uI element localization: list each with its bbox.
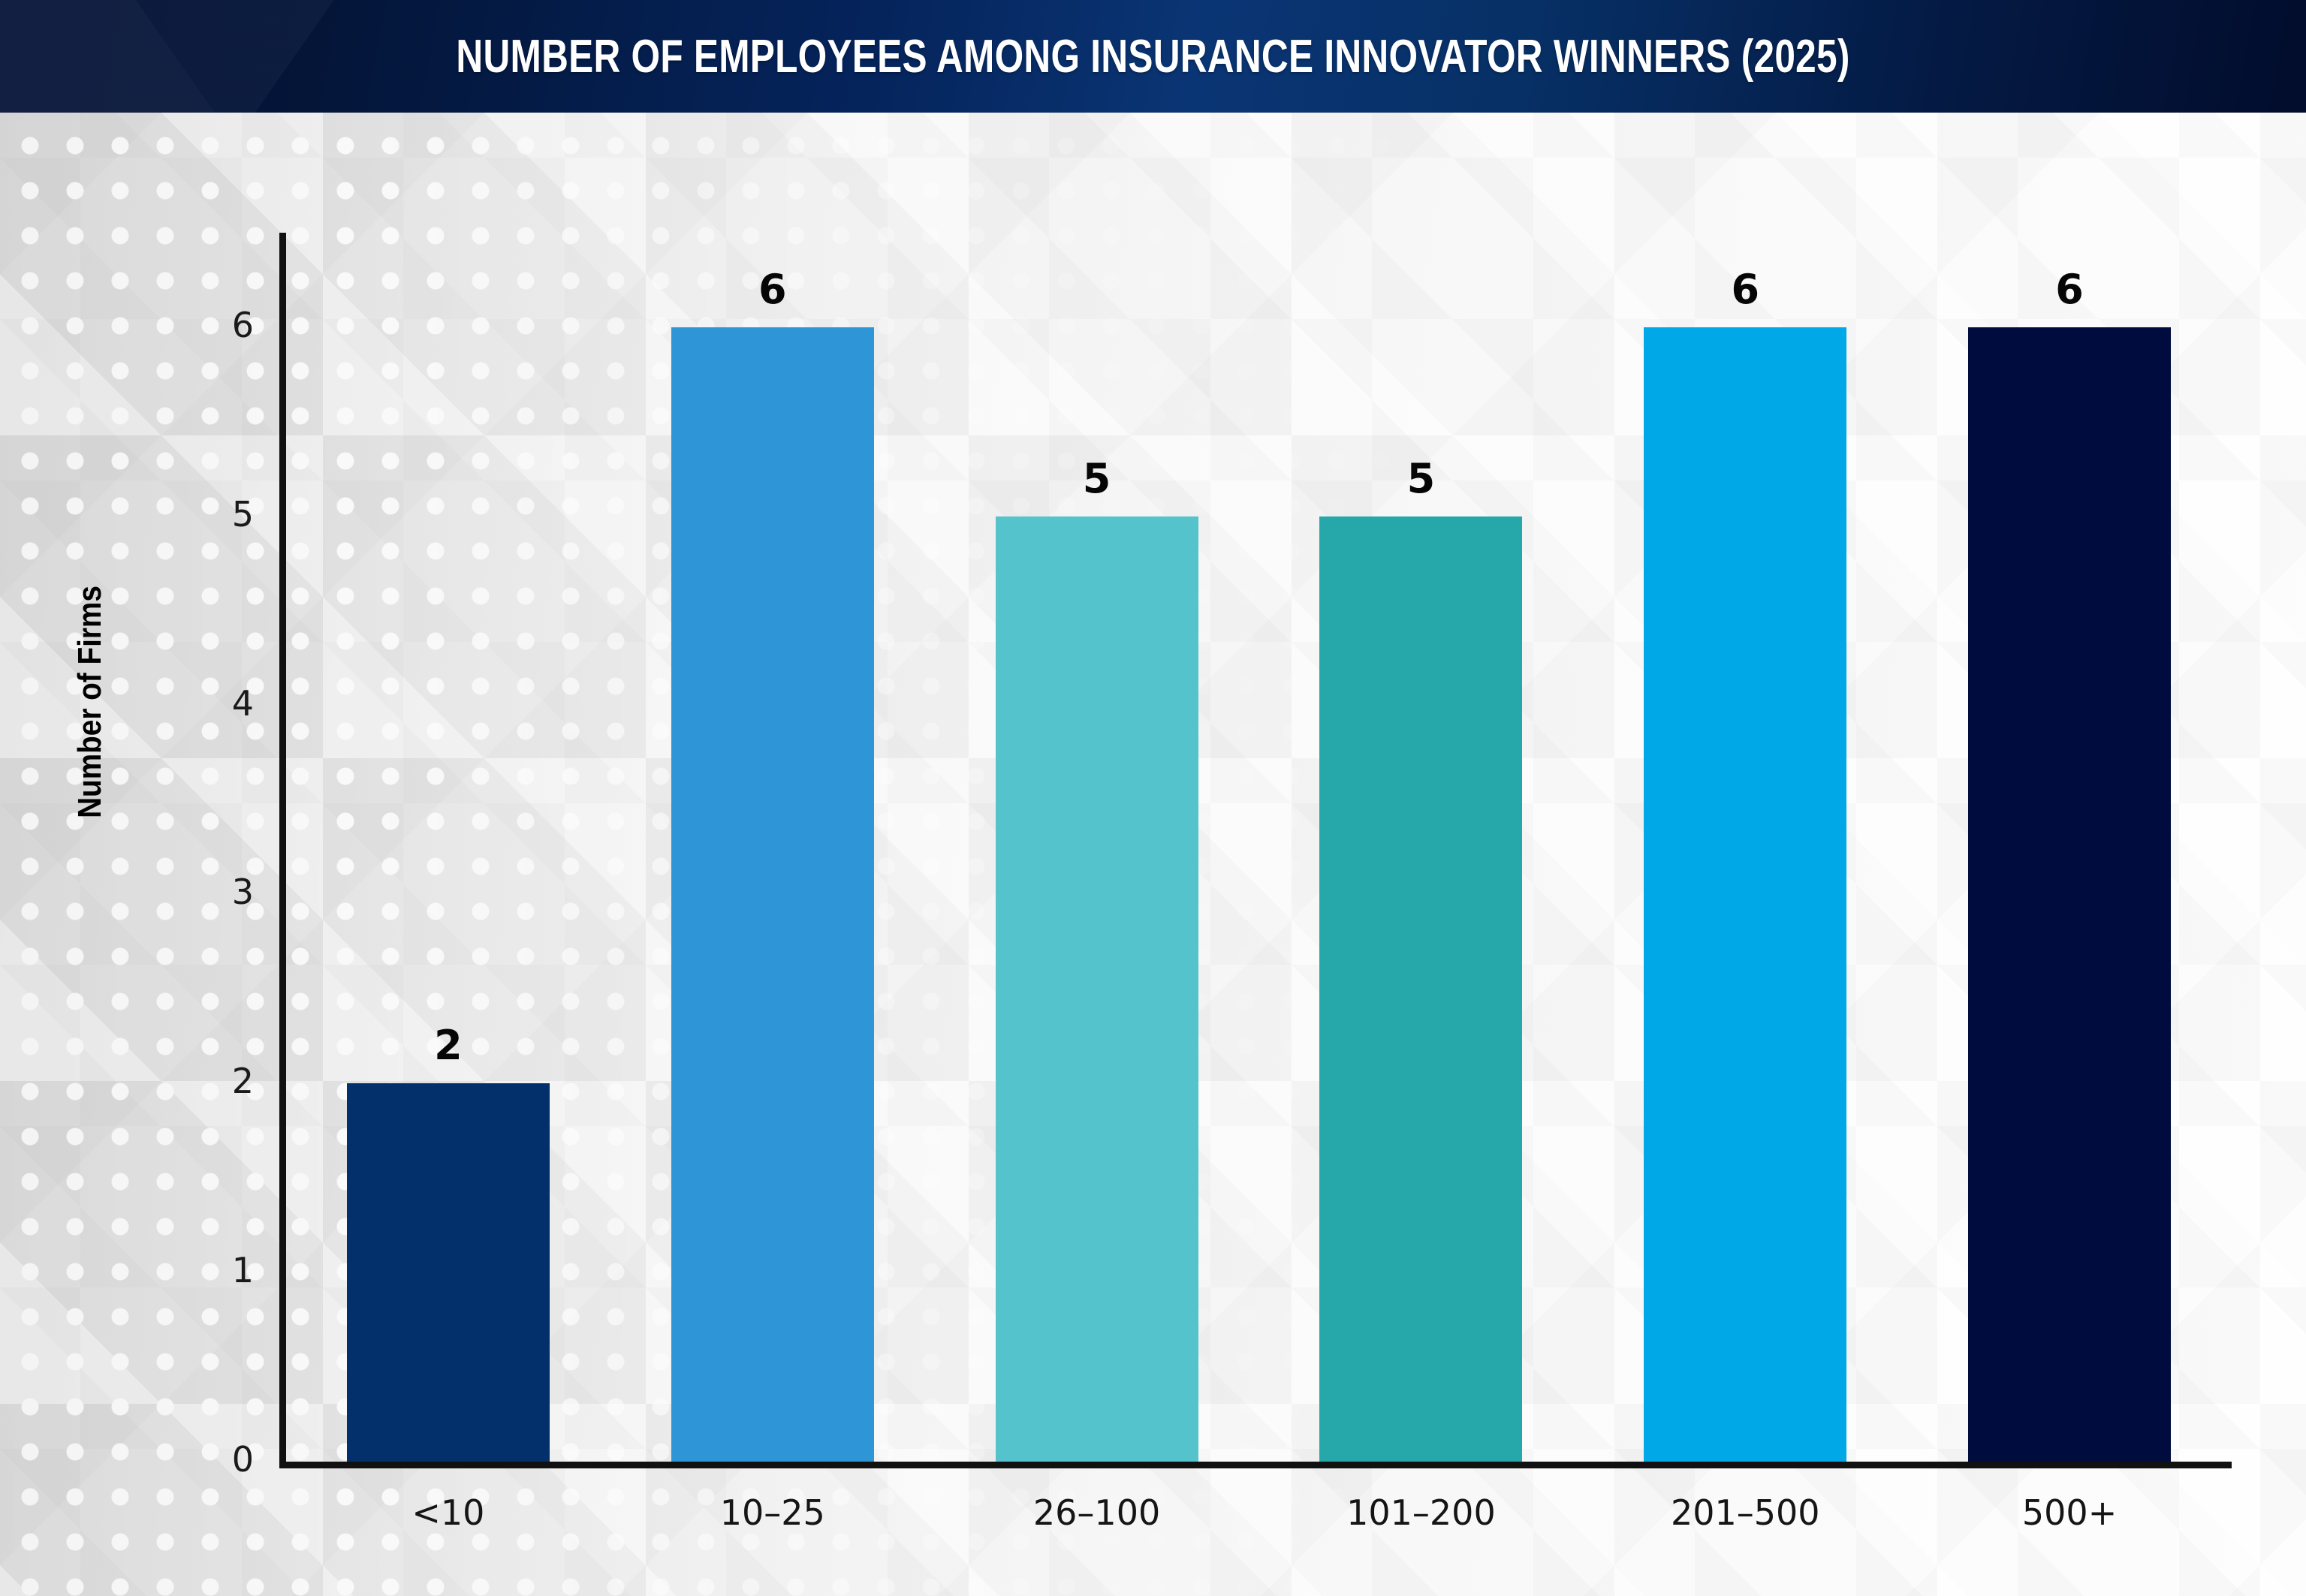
y-axis-line: [279, 233, 286, 1468]
x-axis-tick-label: 10–25: [610, 1492, 935, 1533]
bar-value-label: 5: [1319, 455, 1522, 502]
y-axis-tick-label: 0: [186, 1439, 254, 1480]
y-axis-tick-label: 2: [186, 1061, 254, 1101]
y-axis-tick-label: 5: [186, 494, 254, 535]
y-axis-tick-label: 6: [186, 305, 254, 345]
infographic-chart: NUMBER OF EMPLOYEES AMONG INSURANCE INNO…: [0, 0, 2306, 1596]
chart-canvas: 0123456 Number of Firms 265566 <1010–252…: [0, 113, 2306, 1596]
bar-value-label: 6: [1644, 266, 1846, 313]
x-axis-tick-label: 201–500: [1583, 1492, 1907, 1533]
bar[interactable]: [1968, 327, 2171, 1462]
bar-value-label: 6: [671, 266, 874, 313]
title-banner: NUMBER OF EMPLOYEES AMONG INSURANCE INNO…: [0, 0, 2306, 113]
x-axis-line: [279, 1462, 2232, 1468]
bar-value-label: 2: [347, 1022, 550, 1069]
plot-area: 0123456 Number of Firms 265566 <1010–252…: [0, 113, 2306, 1596]
y-axis-title: Number of Firms: [71, 563, 109, 841]
bar[interactable]: [347, 1083, 550, 1462]
x-axis-tick-label: <10: [286, 1492, 610, 1533]
y-axis-tick-label: 1: [186, 1250, 254, 1290]
y-axis-tick-label: 3: [186, 872, 254, 912]
bar-value-label: 5: [996, 455, 1198, 502]
page-title: NUMBER OF EMPLOYEES AMONG INSURANCE INNO…: [231, 0, 2075, 113]
x-axis-tick-label: 500+: [1907, 1492, 2232, 1533]
bar-value-label: 6: [1968, 266, 2171, 313]
bar[interactable]: [671, 327, 874, 1462]
x-axis-tick-label: 26–100: [935, 1492, 1259, 1533]
bar[interactable]: [1644, 327, 1846, 1462]
y-axis-tick-label: 4: [186, 683, 254, 724]
bar[interactable]: [996, 516, 1198, 1462]
bar[interactable]: [1319, 516, 1522, 1462]
x-axis-tick-label: 101–200: [1259, 1492, 1584, 1533]
